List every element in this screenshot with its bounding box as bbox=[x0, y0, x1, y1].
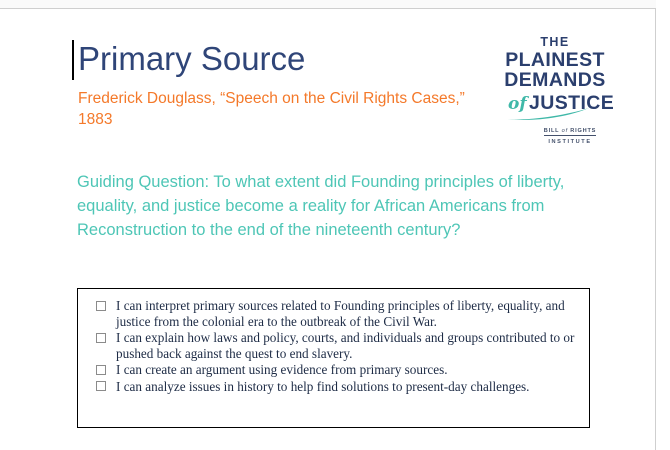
logo-org-bill: BILL bbox=[544, 128, 560, 134]
logo-org-of: of bbox=[562, 128, 568, 134]
guiding-question: Guiding Question: To what extent did Fou… bbox=[77, 170, 579, 242]
bill-of-rights-institute-logo: THE PLAINEST DEMANDS of JUSTICE BILL of … bbox=[500, 36, 610, 136]
objective-text: I can interpret primary sources related … bbox=[116, 298, 565, 329]
page-subtitle: Frederick Douglass, “Speech on the Civil… bbox=[72, 88, 468, 130]
logo-org-rights: RIGHTS bbox=[570, 128, 596, 134]
page-top-margin bbox=[0, 0, 656, 8]
checkbox-icon[interactable] bbox=[96, 301, 106, 311]
text-cursor-caret bbox=[72, 40, 74, 80]
page-right-rule bbox=[655, 8, 656, 450]
slide-page: Primary Source Frederick Douglass, “Spee… bbox=[0, 0, 670, 450]
logo-line-the: THE bbox=[500, 36, 610, 49]
logo-org-line-2: INSTITUTE bbox=[528, 139, 612, 145]
list-item[interactable]: I can create an argument using evidence … bbox=[96, 362, 579, 378]
page-title: Primary Source bbox=[72, 38, 492, 80]
objective-text: I can explain how laws and policy, court… bbox=[116, 330, 574, 361]
checkbox-icon[interactable] bbox=[96, 381, 106, 391]
list-item[interactable]: I can explain how laws and policy, court… bbox=[96, 330, 579, 361]
objectives-box: I can interpret primary sources related … bbox=[77, 288, 590, 428]
logo-org-line-1: BILL of RIGHTS bbox=[544, 128, 596, 136]
list-item[interactable]: I can analyze issues in history to help … bbox=[96, 379, 579, 395]
objective-text: I can create an argument using evidence … bbox=[116, 362, 448, 377]
checkbox-icon[interactable] bbox=[96, 365, 106, 375]
title-block: Primary Source Frederick Douglass, “Spee… bbox=[72, 38, 492, 130]
checkbox-icon[interactable] bbox=[96, 333, 106, 343]
objective-text: I can analyze issues in history to help … bbox=[116, 379, 529, 394]
logo-line-demands: DEMANDS bbox=[500, 71, 610, 91]
page-top-rule bbox=[0, 8, 656, 9]
objectives-list: I can interpret primary sources related … bbox=[78, 289, 589, 395]
logo-org-name: BILL of RIGHTS INSTITUTE bbox=[528, 119, 612, 145]
list-item[interactable]: I can interpret primary sources related … bbox=[96, 298, 579, 329]
logo-line-plainest: PLAINEST bbox=[500, 51, 610, 71]
